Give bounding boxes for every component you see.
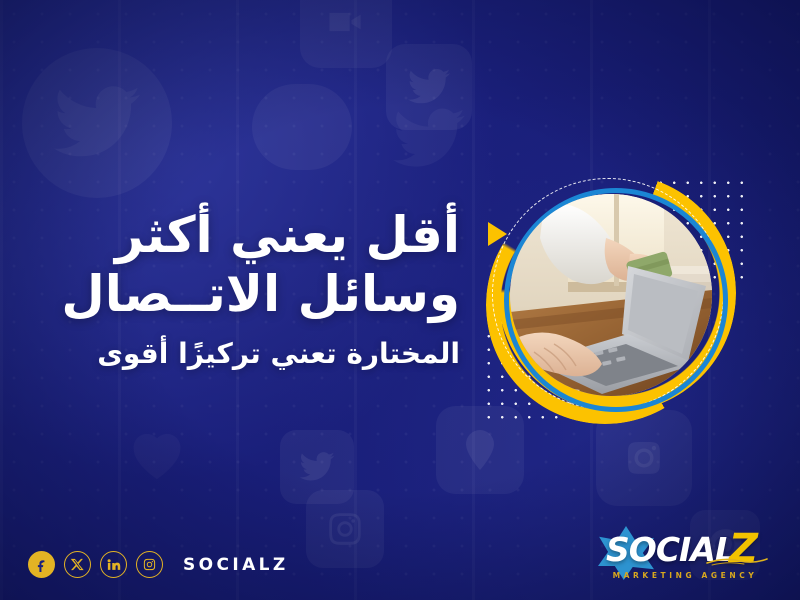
headline-subline: المختارة تعني تركيزًا أقوى [40,336,460,372]
headline-block: أقل يعني أكثر وسائل الاتــصال المختارة ت… [40,206,460,372]
poster-canvas: أقل يعني أكثر وسائل الاتــصال المختارة ت… [0,0,800,600]
logo-tagline: MARKETING AGENCY [610,571,760,580]
instagram-icon[interactable] [136,551,163,578]
photo-medallion [482,168,750,420]
logo-brush-swash [706,556,768,566]
facebook-icon[interactable] [28,551,55,578]
laptop-photo [510,194,712,396]
linkedin-icon[interactable] [100,551,127,578]
headline-line-2: وسائل الاتــصال [40,265,460,324]
footer-social-row: SOCIALZ [28,551,289,578]
x-icon[interactable] [64,551,91,578]
headline-line-1: أقل يعني أكثر [40,206,460,265]
socialz-logo[interactable]: SOCIAL Z MARKETING AGENCY [592,524,774,582]
gold-triangle-marker [488,222,507,246]
footer-brand-word: SOCIALZ [183,555,289,575]
